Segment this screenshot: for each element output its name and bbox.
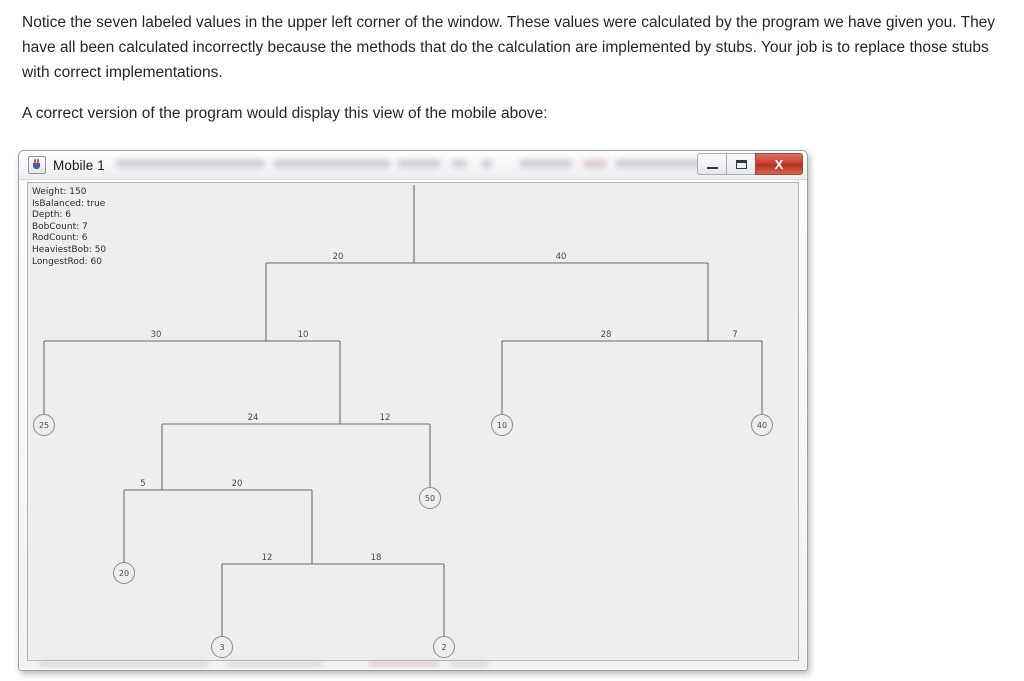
blurred-background-text	[115, 157, 617, 172]
instruction-paragraph-1: Notice the seven labeled values in the u…	[22, 10, 1014, 85]
instruction-paragraph-2: A correct version of the program would d…	[22, 101, 1014, 126]
bob-label-40: 40	[757, 421, 767, 430]
rod-label-ll-right: 12	[380, 413, 391, 423]
instruction-text: Notice the seven labeled values in the u…	[22, 10, 1014, 137]
bob-label-3: 3	[219, 643, 224, 652]
window-titlebar[interactable]: Mobile 1 X	[19, 151, 807, 180]
maximize-icon	[736, 160, 747, 169]
rod-label-llll-left: 12	[262, 553, 273, 563]
bob-label-10: 10	[497, 421, 507, 430]
bob-label-25: 25	[39, 421, 49, 430]
window-title: Mobile 1	[53, 158, 105, 173]
rod-label-left-left: 30	[151, 330, 162, 340]
rod-label-right-left: 28	[601, 330, 612, 340]
java-coffee-cup-icon	[28, 156, 46, 174]
close-button[interactable]: X	[755, 153, 803, 175]
mobile-diagram: 20 40 30 10 25 24 12 50 5 20	[28, 183, 799, 661]
rod-label-lll-left: 5	[140, 479, 145, 489]
window-controls: X	[697, 153, 803, 175]
rod-label-left-right: 10	[298, 330, 309, 340]
minimize-icon	[707, 167, 718, 169]
bob-label-2: 2	[441, 643, 446, 652]
bob-label-20: 20	[119, 569, 129, 578]
rod-label-right-right: 7	[732, 330, 737, 340]
mobile-canvas-panel: Weight: 150 IsBalanced: true Depth: 6 Bo…	[27, 182, 799, 661]
rod-label-llll-right: 18	[371, 553, 382, 563]
minimize-button[interactable]	[697, 153, 726, 175]
rod-label-lll-right: 20	[232, 479, 243, 489]
mobile-application-window: Mobile 1 X Weight: 150 IsBalanced: true	[18, 150, 808, 671]
rod-label-root-right: 40	[556, 252, 567, 262]
rod-label-root-left: 20	[333, 252, 344, 262]
maximize-button[interactable]	[726, 153, 755, 175]
rod-label-ll-left: 24	[248, 413, 259, 423]
window-bottom-bleed	[39, 661, 783, 668]
bob-label-50: 50	[425, 494, 435, 503]
